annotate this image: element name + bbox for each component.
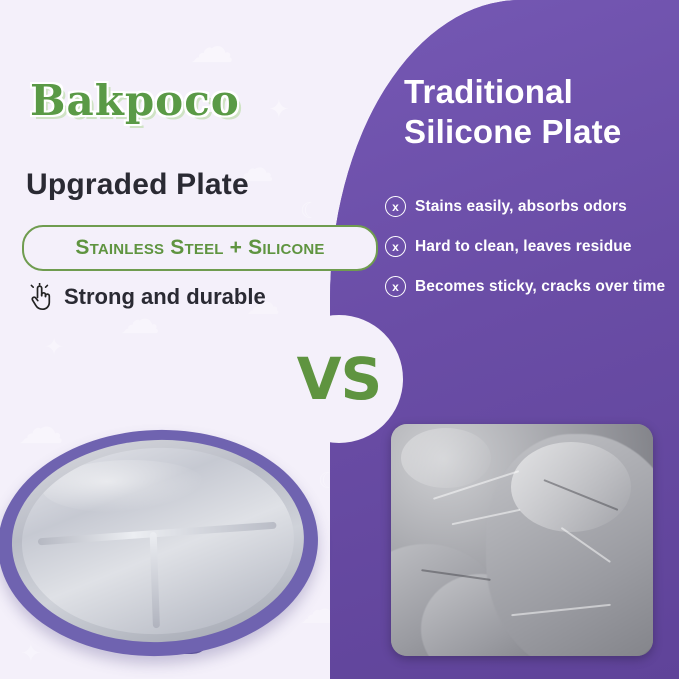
- material-badge: Stainless Steel + Silicone: [22, 225, 378, 271]
- traditional-silicone-image: [391, 424, 653, 656]
- left-heading: Upgraded Plate: [26, 168, 249, 202]
- sparkle-icon: ✦: [44, 336, 64, 360]
- sparkle-icon: ✦: [268, 96, 290, 122]
- x-mark-icon: x: [385, 236, 406, 257]
- upgraded-plate-image: [0, 420, 332, 670]
- list-item: x Becomes sticky, cracks over time: [385, 276, 675, 297]
- brand-logo: Bakpoco: [30, 76, 240, 125]
- con-text: Stains easily, absorbs odors: [415, 198, 627, 216]
- material-badge-label: Stainless Steel + Silicone: [75, 236, 324, 260]
- con-text: Becomes sticky, cracks over time: [415, 278, 665, 296]
- plate-divider-vertical: [149, 532, 159, 629]
- silicone-highlight: [511, 442, 631, 532]
- plate-divider-horizontal: [38, 521, 277, 545]
- feature-row: Strong and durable: [28, 283, 266, 311]
- plate-silicone-rim: [0, 424, 322, 661]
- right-heading-line1: Traditional: [404, 72, 674, 112]
- plate-highlight: [41, 457, 206, 515]
- feature-label: Strong and durable: [64, 284, 266, 310]
- comparison-infographic: ☁ ✦ ☁ ☾ ☁ ✦ ☁ ☁ ☾ ☁ ✦ ☁ Bakpoco Upgraded…: [0, 0, 679, 679]
- vs-badge: VS: [275, 315, 403, 443]
- cons-list: x Stains easily, absorbs odors x Hard to…: [385, 196, 675, 316]
- plate-steel-rim: [8, 435, 307, 647]
- moon-icon: ☾: [300, 200, 320, 222]
- plate-steel-basin: [19, 443, 297, 638]
- cloud-icon: ☁: [190, 26, 234, 70]
- x-mark-icon: x: [385, 196, 406, 217]
- list-item: x Hard to clean, leaves residue: [385, 236, 675, 257]
- con-text: Hard to clean, leaves residue: [415, 238, 632, 256]
- tap-hand-icon: [28, 283, 54, 311]
- silicone-highlight: [401, 428, 491, 488]
- right-heading: Traditional Silicone Plate: [404, 72, 674, 153]
- vs-label: VS: [297, 345, 382, 413]
- list-item: x Stains easily, absorbs odors: [385, 196, 675, 217]
- right-heading-line2: Silicone Plate: [404, 112, 674, 152]
- x-mark-icon: x: [385, 276, 406, 297]
